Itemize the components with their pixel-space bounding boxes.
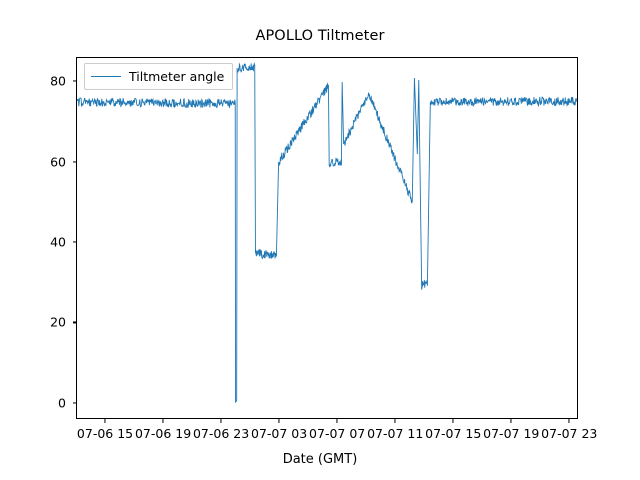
y-tick-mark: [73, 241, 77, 242]
x-tick-label: 07-07 23: [541, 426, 597, 441]
y-tick-label: 0: [22, 395, 66, 410]
data-line-svg: [77, 58, 577, 418]
tiltmeter-angle-line: [77, 63, 577, 402]
y-tick-label: 60: [22, 154, 66, 169]
x-tick-mark: [511, 419, 512, 423]
x-tick-label: 07-07 19: [483, 426, 539, 441]
x-tick-mark: [453, 419, 454, 423]
y-tick-label: 20: [22, 315, 66, 330]
chart-figure: APOLLO Tiltmeter Angle (deg) Date (GMT) …: [0, 0, 640, 480]
x-tick-mark: [104, 419, 105, 423]
x-tick-label: 07-07 03: [251, 426, 307, 441]
x-tick-label: 07-06 15: [77, 426, 133, 441]
chart-legend: Tiltmeter angle: [84, 63, 233, 90]
x-tick-mark: [221, 419, 222, 423]
x-tick-label: 07-07 07: [309, 426, 365, 441]
legend-line-swatch: [91, 76, 121, 77]
x-tick-mark: [395, 419, 396, 423]
y-tick-label: 40: [22, 235, 66, 250]
chart-title: APOLLO Tiltmeter: [0, 28, 640, 44]
x-tick-mark: [569, 419, 570, 423]
x-tick-mark: [337, 419, 338, 423]
x-tick-label: 07-06 19: [135, 426, 191, 441]
y-tick-mark: [73, 81, 77, 82]
x-tick-label: 07-07 11: [367, 426, 423, 441]
plot-area: [76, 57, 578, 419]
y-tick-mark: [73, 402, 77, 403]
y-tick-mark: [73, 161, 77, 162]
legend-label-tiltmeter-angle: Tiltmeter angle: [129, 69, 224, 84]
x-axis-label: Date (GMT): [0, 452, 640, 467]
x-tick-mark: [163, 419, 164, 423]
y-tick-label: 80: [22, 74, 66, 89]
x-tick-label: 07-07 15: [425, 426, 481, 441]
x-tick-mark: [279, 419, 280, 423]
y-tick-mark: [73, 322, 77, 323]
x-tick-label: 07-06 23: [193, 426, 249, 441]
